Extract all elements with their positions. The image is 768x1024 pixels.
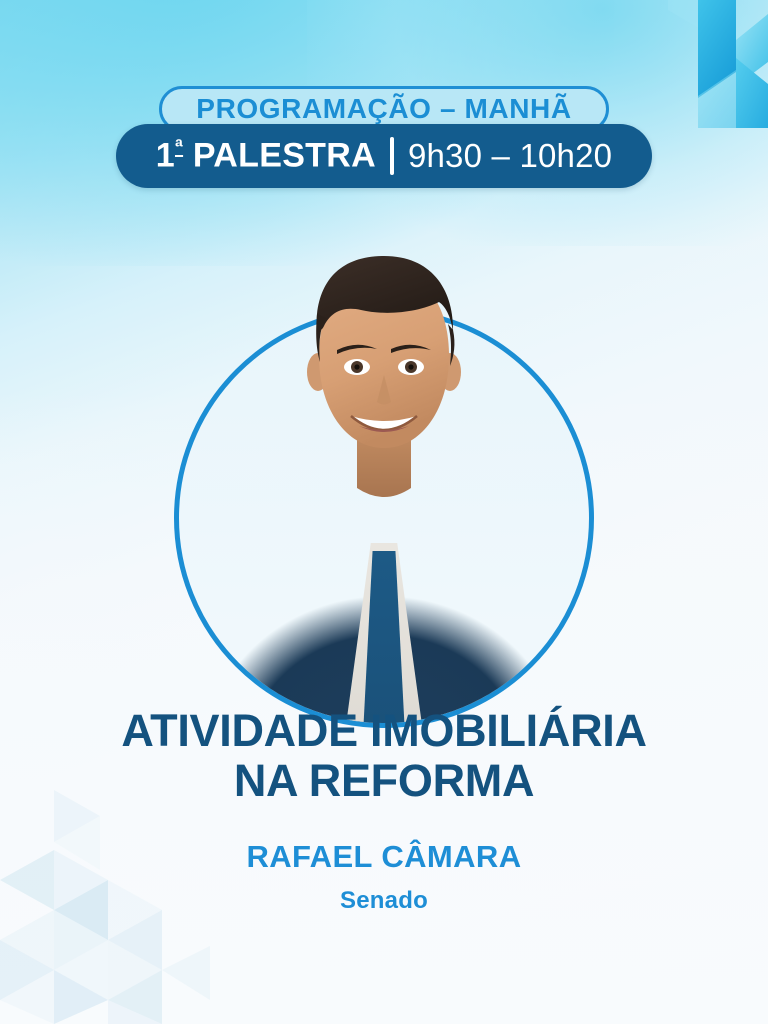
page-title: ATIVIDADE IMOBILIÁRIA NA REFORMA	[48, 706, 720, 805]
portrait-face-icon	[269, 220, 499, 520]
badge-divider	[390, 137, 394, 175]
lecture-badge: 1ª PALESTRA 9h30 – 10h20	[116, 124, 652, 188]
speaker-name: RAFAEL CÂMARA	[48, 839, 720, 875]
talk-info-block: ATIVIDADE IMOBILIÁRIA NA REFORMA RAFAEL …	[0, 706, 768, 915]
lecture-time: 9h30 – 10h20	[408, 137, 612, 175]
lecture-ordinal: ª	[175, 136, 183, 159]
lecture-number: 1	[156, 137, 175, 175]
speaker-portrait	[174, 308, 594, 664]
event-poster: PROGRAMAÇÃO – MANHÃ 1ª PALESTRA 9h30 – 1…	[0, 0, 768, 1024]
talk-title-line-1: ATIVIDADE IMOBILIÁRIA	[121, 705, 646, 756]
header-block: PROGRAMAÇÃO – MANHÃ 1ª PALESTRA 9h30 – 1…	[0, 86, 768, 188]
lecture-label: 1ª PALESTRA	[156, 136, 376, 175]
talk-title-line-2: NA REFORMA	[48, 756, 720, 806]
lecture-word: PALESTRA	[183, 137, 376, 175]
speaker-organization: Senado	[48, 887, 720, 915]
